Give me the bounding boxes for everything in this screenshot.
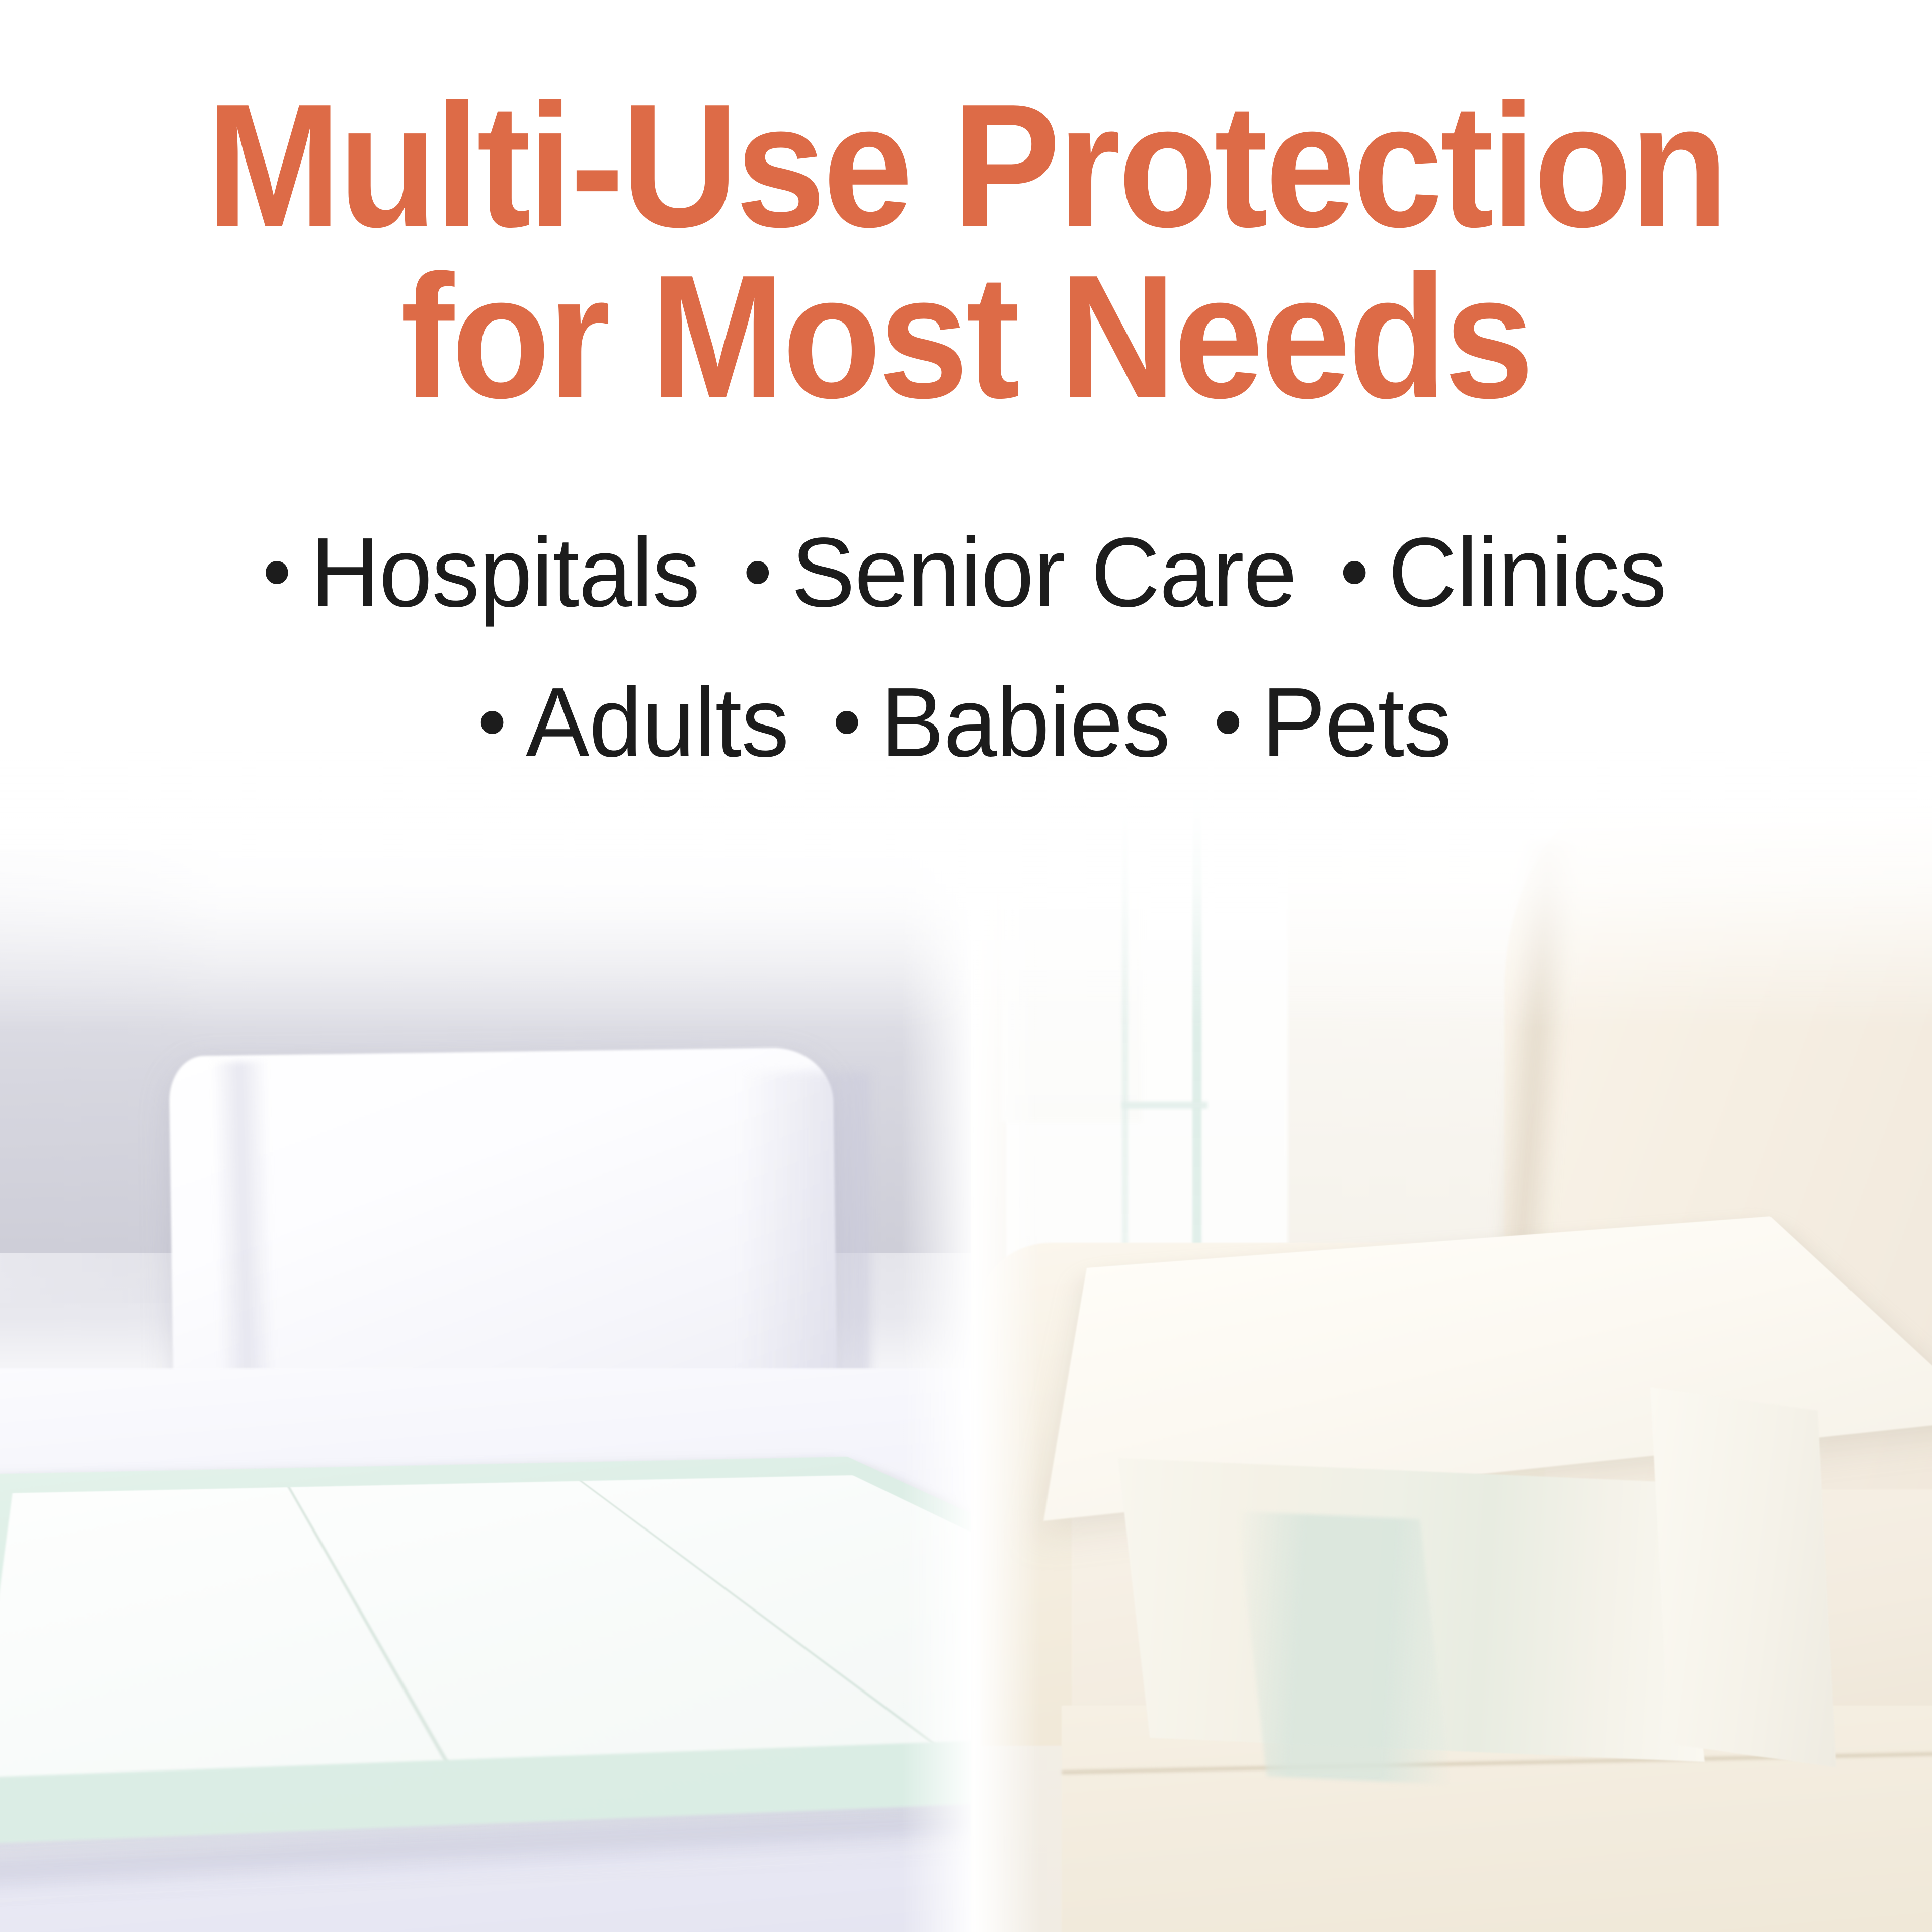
- use-case-clinics: Clinics: [1343, 498, 1666, 648]
- use-case-babies: Babies: [836, 648, 1170, 797]
- use-case-list: Hospitals Senior Care Clinics Adults: [0, 498, 1932, 797]
- bed-pillow-shadow: [740, 1072, 870, 1414]
- photo-hospital-bed: [0, 750, 971, 1932]
- underpad-on-bed: [0, 1457, 971, 1847]
- window-blind: [1001, 750, 1142, 1122]
- bullet-dot-icon: [1217, 711, 1240, 734]
- use-case-row-2: Adults Babies Pets: [29, 648, 1903, 797]
- use-case-hospitals: Hospitals: [266, 498, 699, 648]
- title-line-2: for Most Needs: [400, 238, 1532, 435]
- underpad-bed-absorbent-core: [0, 1475, 971, 1778]
- page-title: Multi-Use Protection for Most Needs: [77, 0, 1855, 422]
- use-case-label: Pets: [1262, 648, 1452, 797]
- use-case-label: Adults: [526, 648, 789, 797]
- photo-collage: [0, 750, 1932, 1932]
- underpad-sofa-side-drape: [1650, 1387, 1836, 1767]
- use-case-label: Senior Care: [791, 498, 1297, 648]
- window-sash: [1122, 1102, 1207, 1109]
- bullet-dot-icon: [266, 561, 288, 584]
- use-case-pets: Pets: [1217, 648, 1452, 797]
- use-case-row-1: Hospitals Senior Care Clinics: [29, 498, 1903, 648]
- photo-cream-sofa: [971, 750, 1932, 1932]
- use-case-label: Babies: [880, 648, 1170, 797]
- product-infographic: Multi-Use Protection for Most Needs Hosp…: [0, 0, 1932, 1932]
- bed-pillow-fold: [212, 1061, 276, 1415]
- use-case-adults: Adults: [481, 648, 789, 797]
- use-case-label: Clinics: [1388, 498, 1666, 648]
- header: Multi-Use Protection for Most Needs Hosp…: [0, 0, 1932, 797]
- underpad-sofa-mint-panel: [1237, 1511, 1450, 1784]
- bullet-dot-icon: [747, 561, 769, 584]
- use-case-senior-care: Senior Care: [747, 498, 1297, 648]
- bullet-dot-icon: [1343, 561, 1366, 584]
- title-line-1: Multi-Use Protection: [206, 67, 1726, 264]
- use-case-label: Hospitals: [310, 498, 699, 648]
- bullet-dot-icon: [481, 711, 504, 734]
- bullet-dot-icon: [836, 711, 858, 734]
